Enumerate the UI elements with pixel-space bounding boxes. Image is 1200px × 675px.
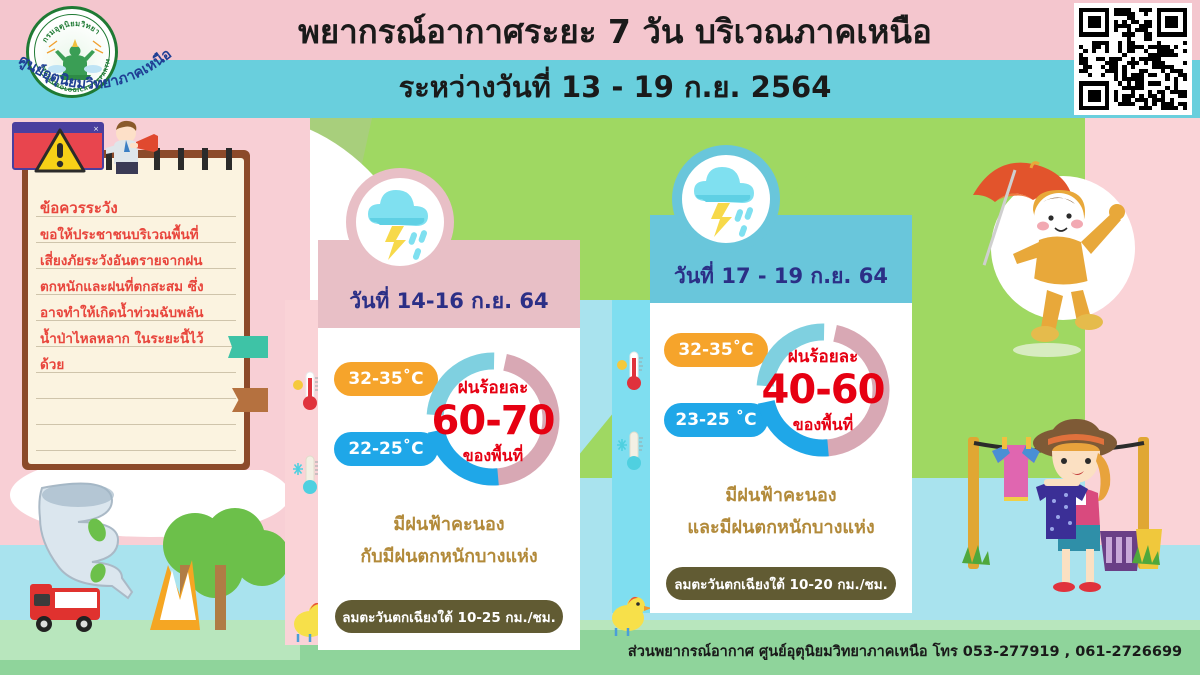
card1-date: วันที่ 14-16 ก.ย. 64 [318, 285, 580, 318]
svg-text:กรมอุตุนิยมวิทยา: กรมอุตุนิยมวิทยา [40, 19, 102, 44]
warning-line: ด้วย [40, 352, 238, 378]
notebook-bookmark-teal [228, 336, 268, 358]
card2-desc-line2: และมีฝนตกหนักบางแห่ง [650, 513, 912, 543]
warning-body: ขอให้ประชาชนบริเวณพื้นที่ เสี่ยงภัยระวัง… [40, 222, 238, 378]
card2-rain-value: 40-60 [750, 367, 896, 413]
logo-curved-text: ศูนย์อุตุนิยมวิทยาภาคเหนือ [8, 42, 176, 114]
card1-wind: ลมตะวันตกเฉียงใต้ 10-25 กม./ชม. [335, 600, 563, 633]
warning-line: เสี่ยงภัยระวังอันตรายจากฝน [40, 248, 238, 274]
girl-hanging-laundry-icon [940, 405, 1190, 620]
page-subtitle: ระหว่างวันที่ 13 - 19 ก.ย. 2564 [185, 62, 1045, 112]
card2-rain-label: ฝนร้อยละ [750, 343, 896, 370]
infographic-canvas: พยากรณ์อากาศระยะ 7 วัน บริเวณภาคเหนือ ระ… [0, 0, 1200, 675]
forecast-card-2[interactable]: วันที่ 17 - 19 ก.ย. 64 32-35˚C 23-25 ˚C [650, 215, 912, 613]
card2-rain-suffix: ของพื้นที่ [750, 413, 896, 438]
card1-weather-icon-frame [346, 168, 454, 276]
yellow-bird-icon [606, 586, 650, 640]
card1-rain-label: ฝนร้อยละ [420, 374, 566, 401]
logo-curve-label: ศูนย์อุตุนิยมวิทยาภาคเหนือ [16, 46, 175, 92]
page-title: พยากรณ์อากาศระยะ 7 วัน บริเวณภาคเหนือ [185, 6, 1045, 58]
thunderstorm-rain-icon [356, 178, 444, 266]
warning-line: ตกหนักและฝนที่ตกสะสม ซึ่ง [40, 274, 238, 300]
child-raincoat-umbrella-icon [955, 150, 1190, 365]
warning-line: น้ำป่าไหลหลาก ในระยะนี้ไว้ [40, 326, 238, 352]
thunderstorm-rain-icon [682, 155, 770, 243]
qr-code[interactable] [1074, 3, 1192, 115]
notebook-ring [226, 148, 232, 170]
card2-body: 32-35˚C 23-25 ˚C ฝนร้อยละ 40-60 ของพื้นท… [650, 303, 912, 613]
notebook-ring [202, 148, 208, 170]
cold-thermometer-icon [616, 428, 650, 474]
card1-desc-line2: กับมีฝนตกหนักบางแห่ง [318, 542, 580, 572]
notebook-rule [36, 424, 236, 425]
tmd-logo: กรมอุตุนิยมวิทยา METEOROLOGICAL DEPARTME… [8, 2, 176, 114]
warning-triangle-icon [34, 128, 86, 174]
card1-rain-donut: ฝนร้อยละ 60-70 ของพื้นที่ [420, 346, 566, 492]
notebook-rule [36, 398, 236, 399]
notebook-rule [36, 450, 236, 451]
card2-rain-donut: ฝนร้อยละ 40-60 ของพื้นที่ [750, 317, 896, 463]
svg-text:ศูนย์อุตุนิยมวิทยาภาคเหนือ: ศูนย์อุตุนิยมวิทยาภาคเหนือ [16, 46, 175, 92]
notebook-ring [178, 148, 184, 170]
megaphone-man-icon [100, 118, 170, 176]
card1-desc-line1: มีฝนฟ้าคะนอง [318, 510, 580, 540]
card1-rain-suffix: ของพื้นที่ [420, 444, 566, 469]
warning-line: อาจทำให้เกิดน้ำท่วมฉับพลัน [40, 300, 238, 326]
footer-contact: ส่วนพยากรณ์อากาศ ศูนย์อุตุนิยมวิทยาภาคเห… [620, 638, 1190, 666]
card2-date: วันที่ 17 - 19 ก.ย. 64 [650, 260, 912, 293]
warning-line: ขอให้ประชาชนบริเวณพื้นที่ [40, 222, 238, 248]
broken-trees-icon [150, 508, 290, 630]
card1-body: 32-35˚C 22-25˚C ฝนร้อยละ 60-70 ของพื้นที… [318, 328, 580, 650]
card1-rain-value: 60-70 [420, 398, 566, 444]
card2-weather-icon-frame [672, 145, 780, 253]
card2-wind: ลมตะวันตกเฉียงใต้ 10-20 กม./ชม. [666, 567, 896, 600]
card2-desc-line1: มีฝนฟ้าคะนอง [650, 481, 912, 511]
disaster-scene [0, 470, 300, 660]
forecast-card-1[interactable]: วันที่ 14-16 ก.ย. 64 32-35˚C 22-25˚C [318, 240, 580, 650]
warning-title: ข้อควรระวัง [40, 196, 236, 220]
hot-thermometer-icon [616, 348, 650, 394]
